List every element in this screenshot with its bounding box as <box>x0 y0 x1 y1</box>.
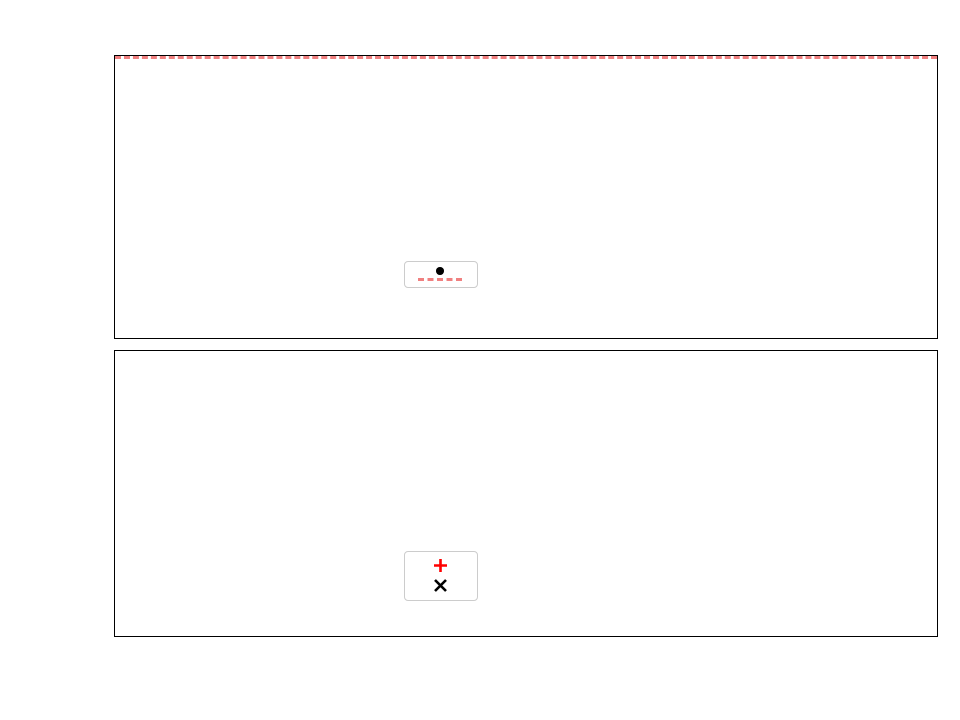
counts-scatter-layer <box>115 351 937 636</box>
legend-entry-predicted-stars <box>414 577 466 594</box>
threshold-line <box>115 56 937 59</box>
legend-entry-matched-stars <box>414 557 466 574</box>
x-marker-icon <box>414 577 466 594</box>
legend-entry-threshold <box>414 278 466 281</box>
counts-legend <box>404 551 478 601</box>
threshold-dash-icon <box>414 278 466 281</box>
plus-marker-icon <box>414 557 466 574</box>
ratio-plot-axes <box>114 55 938 339</box>
measurement-dot-icon <box>414 267 466 275</box>
ratio-legend <box>404 261 478 288</box>
measurements-scatter-layer <box>115 56 937 338</box>
legend-entry-measurements <box>414 267 466 275</box>
count-plot-axes <box>114 350 938 637</box>
figure-canvas <box>0 0 960 720</box>
